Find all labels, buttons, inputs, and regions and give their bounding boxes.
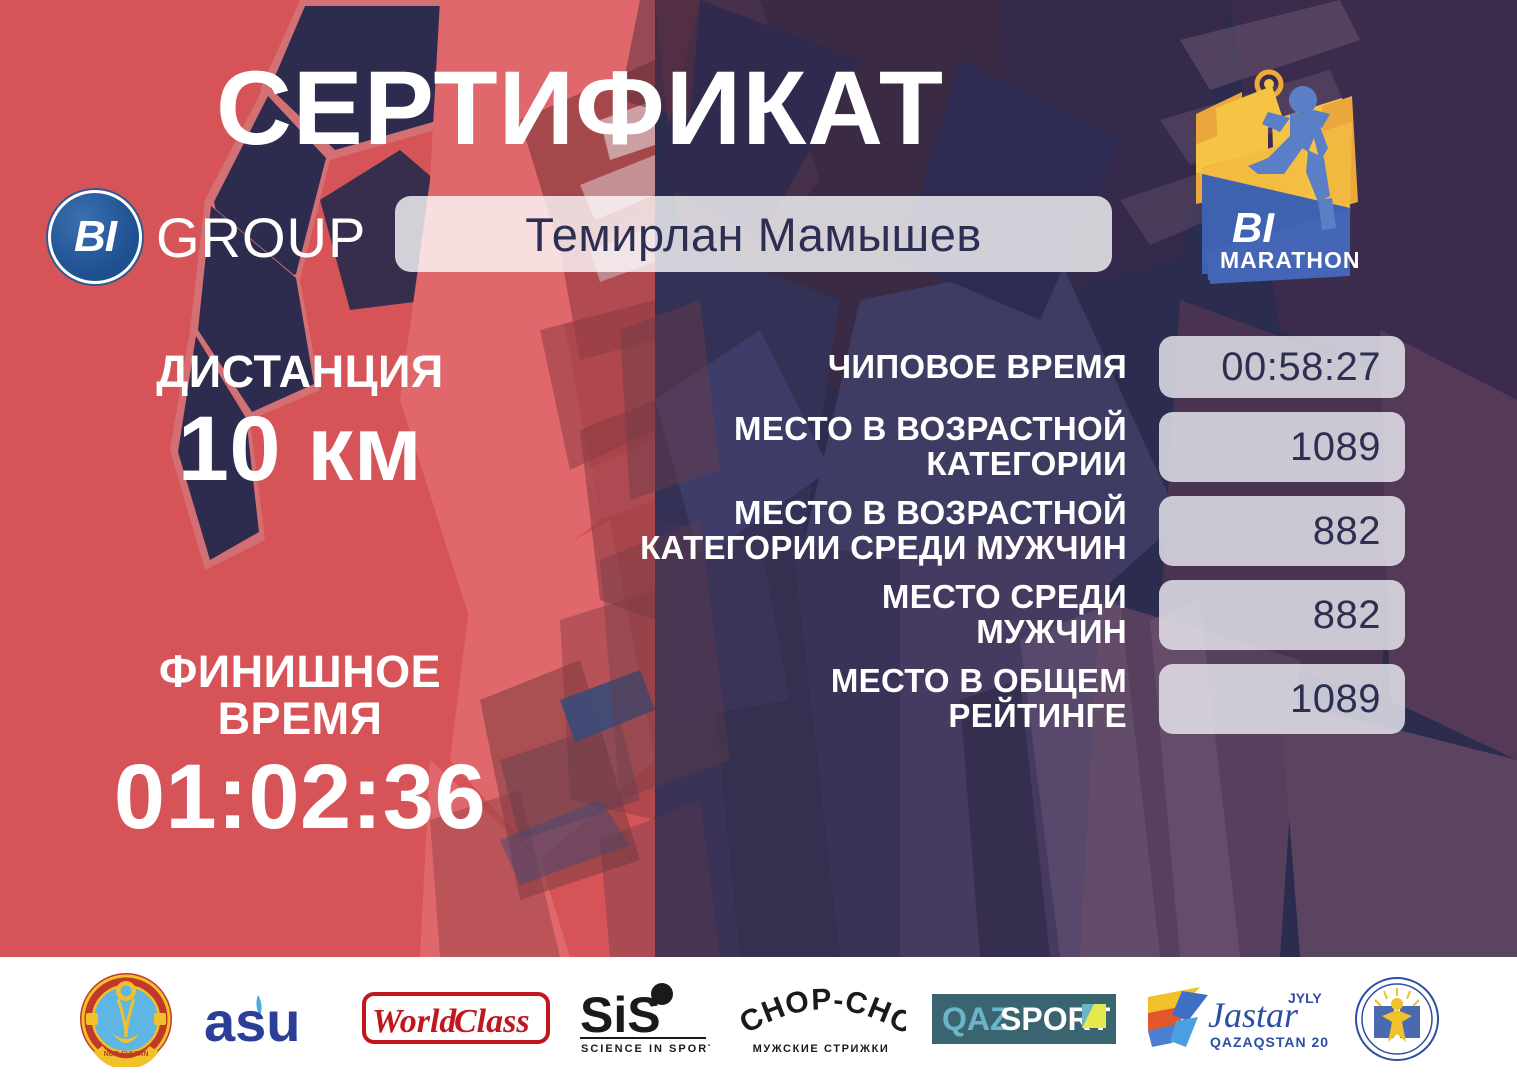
bi-group-wordmark: GROUP xyxy=(156,205,366,270)
asu-logo-icon: asu xyxy=(200,983,336,1055)
stat-row-overall-place: МЕСТО В ОБЩЕМ РЕЙТИНГЕ 1089 xyxy=(500,664,1405,734)
chip-time-pill: 00:58:27 xyxy=(1159,336,1405,398)
participant-name-pill: Темирлан Мамышев xyxy=(395,196,1112,272)
finish-time-label-line1: ФИНИШНОЕ xyxy=(30,648,570,695)
participant-name: Темирлан Мамышев xyxy=(525,207,982,262)
sponsor-strip: NUR-SULTAN asu World Class SiS SCI xyxy=(0,957,1517,1080)
men-place-pill: 882 xyxy=(1159,580,1405,650)
stat-row-age-category-men-place: МЕСТО В ВОЗРАСТНОЙ КАТЕГОРИИ СРЕДИ МУЖЧИ… xyxy=(500,496,1405,566)
men-place-value: 882 xyxy=(1313,593,1405,638)
chip-time-label: ЧИПОВОЕ ВРЕМЯ xyxy=(500,350,1159,385)
asu-wordmark: asu xyxy=(204,990,301,1053)
stat-row-age-category-place: МЕСТО В ВОЗРАСТНОЙ КАТЕГОРИИ 1089 xyxy=(500,412,1405,482)
bi-marathon-logo: BI MARATHON xyxy=(1172,62,1392,312)
overall-place-value: 1089 xyxy=(1290,677,1405,722)
world-class-logo-icon: World Class xyxy=(362,986,550,1052)
overall-place-label-line2: РЕЙТИНГЕ xyxy=(500,699,1127,734)
world-class-word-2: Class xyxy=(454,1003,530,1040)
age-category-men-place-label: МЕСТО В ВОЗРАСТНОЙ КАТЕГОРИИ СРЕДИ МУЖЧИ… xyxy=(500,496,1159,566)
age-category-place-pill: 1089 xyxy=(1159,412,1405,482)
chop-chop-logo-icon: CHOP-CHOP МУЖСКИЕ СТРИЖКИ xyxy=(736,982,906,1056)
sponsor-nur-sultan: NUR-SULTAN xyxy=(78,969,174,1069)
age-category-place-label: МЕСТО В ВОЗРАСТНОЙ КАТЕГОРИИ xyxy=(500,412,1159,482)
sponsor-chop-chop: CHOP-CHOP МУЖСКИЕ СТРИЖКИ xyxy=(736,969,906,1069)
men-place-label: МЕСТО СРЕДИ МУЖЧИН xyxy=(500,580,1159,650)
age-category-men-place-label-line1: МЕСТО В ВОЗРАСТНОЙ xyxy=(500,496,1127,531)
sponsor-world-class: World Class xyxy=(362,969,550,1069)
marathon-logo-word: MARATHON xyxy=(1220,247,1360,273)
sponsor-qazsport: QAZ SPORT xyxy=(932,969,1116,1069)
distance-block: ДИСТАНЦИЯ 10 км xyxy=(30,348,570,498)
distance-value: 10 км xyxy=(30,401,570,498)
age-category-men-place-label-line2: КАТЕГОРИИ СРЕДИ МУЖЧИН xyxy=(500,531,1127,566)
finish-time-value: 01:02:36 xyxy=(30,749,570,846)
sis-logo-icon: SiS SCIENCE IN SPORT xyxy=(576,982,710,1056)
finish-time-label-line2: ВРЕМЯ xyxy=(30,695,570,742)
overall-place-label-line1: МЕСТО В ОБЩЕМ xyxy=(500,664,1127,699)
overall-place-pill: 1089 xyxy=(1159,664,1405,734)
world-class-word-1: World xyxy=(372,1003,457,1040)
bi-group-logo: BI GROUP xyxy=(48,190,366,284)
sis-tagline: SCIENCE IN SPORT xyxy=(581,1043,710,1055)
sponsor-sis: SiS SCIENCE IN SPORT xyxy=(576,969,710,1069)
age-category-place-label-line2: КАТЕГОРИИ xyxy=(500,447,1127,482)
age-category-men-place-value: 882 xyxy=(1313,509,1405,554)
marathon-logo-bi: BI xyxy=(1232,204,1275,251)
overall-place-label: МЕСТО В ОБЩЕМ РЕЙТИНГЕ xyxy=(500,664,1159,734)
jastar-tagline: QAZAQSTAN 2019 xyxy=(1210,1034,1328,1050)
age-category-place-label-line1: МЕСТО В ВОЗРАСТНОЙ xyxy=(500,412,1127,447)
sponsor-ministry xyxy=(1354,969,1440,1069)
men-place-label-line2: МУЖЧИН xyxy=(500,615,1127,650)
page-title: СЕРТИФИКАТ xyxy=(0,56,1160,161)
men-place-label-line1: МЕСТО СРЕДИ xyxy=(500,580,1127,615)
qazsport-logo-icon: QAZ SPORT xyxy=(932,994,1116,1044)
chip-time-label-line1: ЧИПОВОЕ ВРЕМЯ xyxy=(500,350,1127,385)
nur-sultan-label: NUR-SULTAN xyxy=(103,1051,148,1058)
ministry-emblem-icon xyxy=(1354,976,1440,1062)
certificate-canvas: СЕРТИФИКАТ BI GROUP Темирлан Мамышев xyxy=(0,0,1517,1080)
bi-badge-icon: BI xyxy=(48,190,142,284)
sponsor-jastar-jyly: Jastar JYLY QAZAQSTAN 2019 xyxy=(1142,969,1328,1069)
chip-time-value: 00:58:27 xyxy=(1221,345,1405,390)
jastar-wordmark: Jastar xyxy=(1208,995,1299,1035)
sis-wordmark: SiS xyxy=(580,987,661,1043)
bi-badge-text: BI xyxy=(74,212,116,262)
chop-chop-wordmark: CHOP-CHOP xyxy=(736,982,906,1042)
chop-chop-tagline: МУЖСКИЕ СТРИЖКИ xyxy=(752,1043,889,1055)
nur-sultan-emblem-icon: NUR-SULTAN xyxy=(78,971,174,1067)
stat-row-men-place: МЕСТО СРЕДИ МУЖЧИН 882 xyxy=(500,580,1405,650)
jastar-jyly-logo-icon: Jastar JYLY QAZAQSTAN 2019 xyxy=(1142,981,1328,1057)
age-category-place-value: 1089 xyxy=(1290,425,1405,470)
age-category-men-place-pill: 882 xyxy=(1159,496,1405,566)
jyly-wordmark: JYLY xyxy=(1288,990,1322,1006)
sponsor-asu: asu xyxy=(200,969,336,1069)
stat-row-chip-time: ЧИПОВОЕ ВРЕМЯ 00:58:27 xyxy=(500,336,1405,398)
finish-time-block: ФИНИШНОЕ ВРЕМЯ 01:02:36 xyxy=(30,648,570,845)
distance-label: ДИСТАНЦИЯ xyxy=(30,348,570,395)
svg-text:CHOP-CHOP: CHOP-CHOP xyxy=(736,982,906,1042)
results-list: ЧИПОВОЕ ВРЕМЯ 00:58:27 МЕСТО В ВОЗРАСТНО… xyxy=(500,336,1405,748)
